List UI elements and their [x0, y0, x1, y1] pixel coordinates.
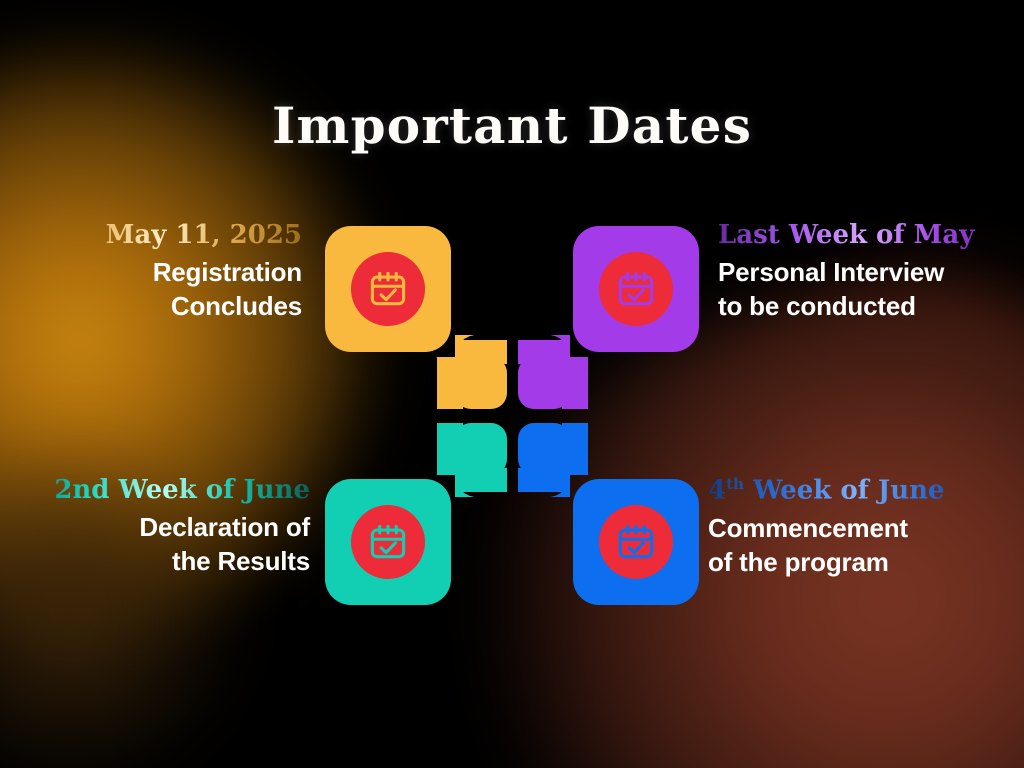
- milestone-eyebrow-personal-interview: Last Week of May: [718, 222, 1014, 249]
- milestone-body-registration: Registration Concludes: [40, 256, 302, 324]
- milestone-body-line1-commencement: Commencement: [708, 512, 1008, 546]
- milestone-body-line2-personal-interview: to be conducted: [718, 290, 1014, 324]
- milestone-body-line2-registration: Concludes: [40, 290, 302, 324]
- connector-square-top-right: [518, 357, 570, 409]
- milestone-eyebrow-number-commencement: 4: [708, 476, 726, 506]
- connector-elbow-bottom-left-b: [455, 475, 477, 497]
- connector-elbow-bottom-right-a: [570, 453, 592, 475]
- milestone-body-line2-commencement: of the program: [708, 546, 1008, 580]
- milestone-text-personal-interview: Last Week of May Personal Interview to b…: [718, 222, 1014, 324]
- milestone-eyebrow-rest-commencement: Week of June: [744, 476, 945, 506]
- milestone-text-commencement: 4th Week of June Commencement of the pro…: [708, 477, 1008, 580]
- connector-square-bottom-left: [455, 423, 507, 475]
- icon-badge-commencement: [599, 505, 673, 579]
- milestone-body-personal-interview: Personal Interview to be conducted: [718, 256, 1014, 324]
- milestone-eyebrow-registration: May 11, 2025: [40, 222, 302, 249]
- milestone-text-registration: May 11, 2025 Registration Concludes: [40, 222, 302, 324]
- milestone-eyebrow-results: 2nd Week of June: [18, 477, 310, 504]
- milestone-eyebrow-commencement: 4th Week of June: [708, 477, 1008, 505]
- connector-elbow-top-left-a: [433, 357, 455, 379]
- milestone-body-commencement: Commencement of the program: [708, 512, 1008, 580]
- connector-elbow-bottom-right-b: [548, 475, 570, 497]
- connector-elbow-top-right-a: [570, 357, 592, 379]
- calendar-check-icon: [366, 520, 410, 564]
- icon-badge-personal-interview: [599, 252, 673, 326]
- page-title: Important Dates: [0, 96, 1024, 155]
- connector-square-top-left: [455, 357, 507, 409]
- connector-square-bottom-right: [518, 423, 570, 475]
- calendar-check-icon: [366, 267, 410, 311]
- slide-canvas: Important Dates: [0, 0, 1024, 768]
- icon-badge-results: [351, 505, 425, 579]
- milestone-body-line2-results: the Results: [18, 545, 310, 579]
- connector-elbow-top-left-b: [455, 335, 477, 357]
- icon-badge-registration: [351, 252, 425, 326]
- milestone-body-line1-registration: Registration: [40, 256, 302, 290]
- connector-elbow-bottom-left-a: [433, 453, 455, 475]
- milestone-body-line1-results: Declaration of: [18, 511, 310, 545]
- calendar-check-icon: [614, 520, 658, 564]
- milestone-body-results: Declaration of the Results: [18, 511, 310, 579]
- connector-elbow-top-right-b: [548, 335, 570, 357]
- milestone-body-line1-personal-interview: Personal Interview: [718, 256, 1014, 290]
- calendar-check-icon: [614, 267, 658, 311]
- milestone-eyebrow-ordinal-commencement: th: [726, 475, 744, 493]
- milestone-text-results: 2nd Week of June Declaration of the Resu…: [18, 477, 310, 579]
